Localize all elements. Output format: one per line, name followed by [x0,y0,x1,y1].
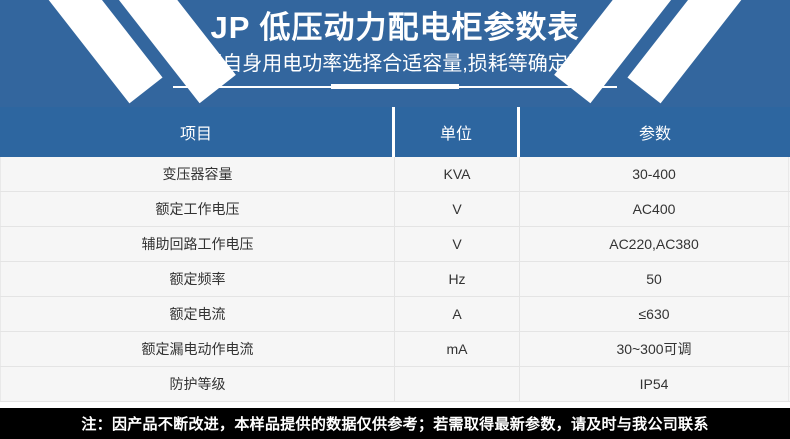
cell-item: 辅助回路工作电压 [0,227,395,261]
table-row: 额定工作电压 V AC400 [0,192,790,227]
cell-item: 额定漏电动作电流 [0,332,395,366]
cell-item: 额定工作电压 [0,192,395,226]
header-content: JP 低压动力配电柜参数表 根据自身用电功率选择合适容量,损耗等确定型号 [0,0,790,107]
table-row: 额定电流 A ≤630 [0,297,790,332]
cell-param: ≤630 [520,297,789,331]
cell-unit: V [395,192,520,226]
cell-param: AC220,AC380 [520,227,789,261]
cell-param: 50 [520,262,789,296]
cell-unit [395,367,520,401]
cell-unit: V [395,227,520,261]
decor-divider-rule [173,84,617,89]
cell-item: 额定电流 [0,297,395,331]
parameter-table: 项目 单位 参数 变压器容量 KVA 30-400 额定工作电压 V AC400… [0,107,790,402]
column-header-item: 项目 [0,107,395,157]
column-header-unit: 单位 [395,107,520,157]
table-row: 辅助回路工作电压 V AC220,AC380 [0,227,790,262]
page-title: JP 低压动力配电柜参数表 [211,7,580,49]
divider-thick-segment [331,84,459,89]
cell-unit: KVA [395,157,520,191]
cell-item: 额定频率 [0,262,395,296]
footer-disclaimer: 注：因产品不断改进，本样品提供的数据仅供参考；若需取得最新参数，请及时与我公司联… [0,408,790,439]
column-header-param: 参数 [520,107,790,157]
cell-unit: A [395,297,520,331]
cell-param: 30~300可调 [520,332,789,366]
table-row: 额定频率 Hz 50 [0,262,790,297]
table-header-row: 项目 单位 参数 [0,107,790,157]
table-row: 变压器容量 KVA 30-400 [0,157,790,192]
cell-param: 30-400 [520,157,789,191]
cell-unit: Hz [395,262,520,296]
cell-item: 变压器容量 [0,157,395,191]
cell-item: 防护等级 [0,367,395,401]
cell-param: IP54 [520,367,789,401]
table-row: 额定漏电动作电流 mA 30~300可调 [0,332,790,367]
header-banner: JP 低压动力配电柜参数表 根据自身用电功率选择合适容量,损耗等确定型号 [0,0,790,107]
cell-unit: mA [395,332,520,366]
cell-param: AC400 [520,192,789,226]
parameter-spec-sheet: JP 低压动力配电柜参数表 根据自身用电功率选择合适容量,损耗等确定型号 项目 … [0,0,790,439]
table-row: 防护等级 IP54 [0,367,790,402]
page-subtitle: 根据自身用电功率选择合适容量,损耗等确定型号 [182,49,608,79]
